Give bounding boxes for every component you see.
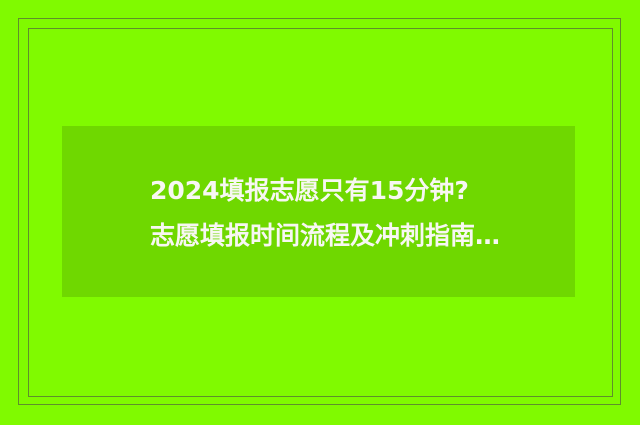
- poster-canvas: 2024填报志愿只有15分钟? 志愿填报时间流程及冲刺指南…: [0, 0, 640, 425]
- headline-line-2: 志愿填报时间流程及冲刺指南…: [150, 213, 570, 258]
- headline-text: 2024填报志愿只有15分钟? 志愿填报时间流程及冲刺指南…: [150, 168, 570, 258]
- headline-line-1: 2024填报志愿只有15分钟?: [150, 168, 570, 213]
